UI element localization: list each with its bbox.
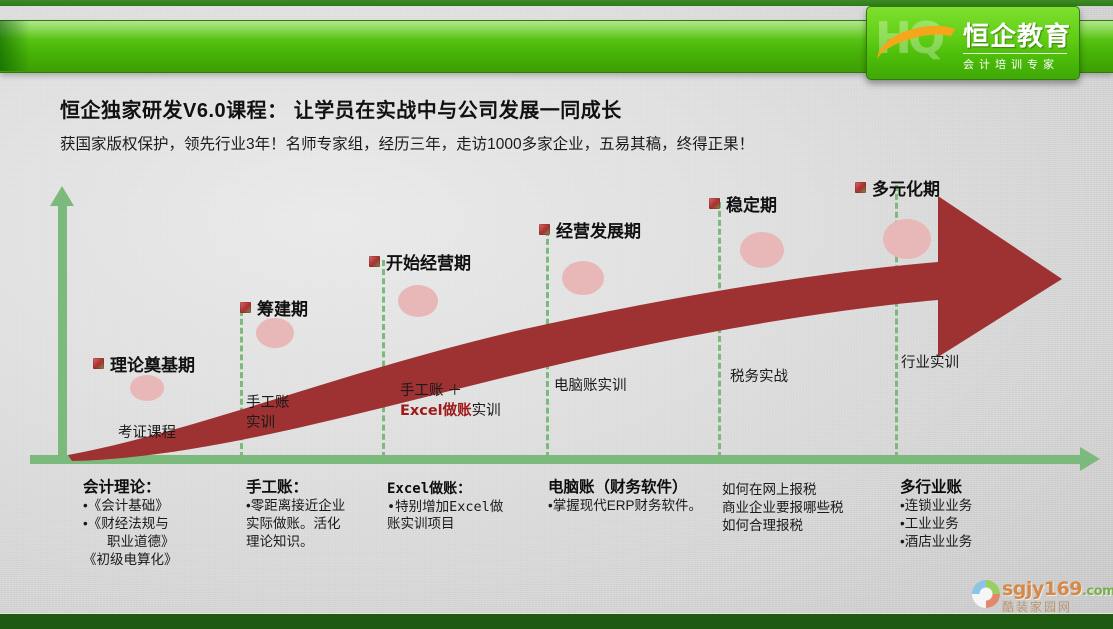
stage-marker-dot [883,219,931,259]
stage-label-1: 考证课程 [118,424,176,444]
stage-label-2: 手工账实训 [246,394,290,433]
milestone-bullet-icon [709,198,720,209]
brand-tagline: 会计培训专家 [963,53,1067,72]
y-axis [58,203,67,460]
stage-label-line: 手工账 ＋ [400,382,501,402]
brand-logo: HQ 恒企教育 会计培训专家 [866,6,1080,80]
stage-divider [382,260,385,458]
curriculum-block-item: •特别增加Excel做 [387,499,503,517]
stage-marker-dot [256,318,294,348]
curriculum-block-item: •零距离接近企业 [246,497,345,515]
milestone-4: 经营发展期 [539,217,641,242]
milestone-bullet-icon [539,224,550,235]
stage-label-6: 行业实训 [901,354,959,374]
curriculum-block-item: 如何合理报税 [722,517,844,535]
header-bar-shadow [0,20,30,71]
curriculum-block-item: 理论知识。 [246,533,345,551]
curriculum-block-item: 账实训项目 [387,516,503,534]
stage-divider [240,310,243,458]
stage-divider [718,202,721,458]
curriculum-block-heading: 电脑账（财务软件） [548,478,702,497]
milestone-label: 筹建期 [257,295,308,320]
milestone-bullet-icon [93,358,104,369]
stage-divider [546,230,549,458]
milestone-label: 理论奠基期 [110,351,195,376]
milestone-label: 稳定期 [726,191,777,216]
highlighted-term: Excel做账 [400,403,472,419]
curriculum-block-heading: 多行业账 [900,478,972,497]
curriculum-block-1: 会计理论：•《会计基础》•《财经法规与职业道德》《初级电算化》 [83,478,178,569]
milestone-label: 开始经营期 [386,249,471,274]
slide-canvas: HQ 恒企教育 会计培训专家 恒企独家研发V6.0课程： 让学员在实战中与公司发… [0,0,1113,628]
curriculum-block-heading: 会计理论： [83,478,178,497]
curriculum-block-item: 《初级电算化》 [83,551,178,569]
watermark-caption: 酷装家园网 [1002,598,1072,615]
curriculum-block-heading: Excel做账： [387,481,503,499]
milestone-label: 多元化期 [872,175,940,200]
curriculum-block-item: 职业道德》 [83,533,178,551]
milestone-5: 稳定期 [709,191,777,216]
stage-label-line: 行业实训 [901,354,959,374]
curriculum-block-item: •工业业务 [900,515,972,533]
curriculum-block-3: Excel做账：•特别增加Excel做账实训项目 [387,481,503,534]
stage-label-5: 税务实战 [730,368,788,388]
site-watermark: sgjy169.com 酷装家园网 [972,576,1105,616]
brand-name: 恒企教育 [963,16,1071,53]
milestone-bullet-icon [855,182,866,193]
x-axis [30,455,1083,464]
milestone-3: 开始经营期 [369,249,471,274]
milestone-bullet-icon [240,302,251,313]
stage-label-line: 考证课程 [118,424,176,444]
curriculum-block-item: •《会计基础》 [83,497,178,515]
milestone-bullet-icon [369,256,380,267]
curriculum-block-6: 多行业账•连锁业业务•工业业务•酒店业业务 [900,478,972,551]
stage-marker-dot [562,261,604,295]
curriculum-block-item: 商业企业要报哪些税 [722,499,844,517]
stage-label-4: 电脑账实训 [554,377,627,397]
stage-label-line: Excel做账实训 [400,402,501,422]
footer-bar [0,613,1113,629]
milestone-1: 理论奠基期 [93,351,195,376]
stage-label-3: 手工账 ＋Excel做账实训 [400,382,501,421]
curriculum-block-item: 如何在网上报税 [722,481,844,499]
curriculum-block-item: •掌握现代ERP财务软件。 [548,497,702,515]
stage-label-line: 实训 [246,414,290,434]
milestone-2: 筹建期 [240,295,308,320]
stage-marker-dot [130,375,164,401]
stage-marker-dot [740,232,784,268]
leaf-icon [972,580,1000,608]
curriculum-block-item: •酒店业业务 [900,533,972,551]
curriculum-block-item: 实际做账。活化 [246,515,345,533]
stage-label-line: 税务实战 [730,368,788,388]
curriculum-block-item: •连锁业业务 [900,497,972,515]
milestone-label: 经营发展期 [556,217,641,242]
milestone-6: 多元化期 [855,175,940,200]
x-axis-arrow-icon [1080,447,1100,471]
watermark-domain: sgjy169.com [1002,578,1113,600]
page-title: 恒企独家研发V6.0课程： 让学员在实战中与公司发展一同成长 [60,94,622,123]
curriculum-block-item: •《财经法规与 [83,515,178,533]
curriculum-block-5: 如何在网上报税商业企业要报哪些税如何合理报税 [722,481,844,534]
stage-label-line: 手工账 [246,394,290,414]
curriculum-block-4: 电脑账（财务软件）•掌握现代ERP财务软件。 [548,478,702,515]
stage-label-line: 电脑账实训 [554,377,627,397]
page-subtitle: 获国家版权保护，领先行业3年！名师专家组，经历三年，走访1000多家企业，五易其… [60,132,754,154]
curriculum-block-2: 手工账：•零距离接近企业实际做账。活化理论知识。 [246,478,345,551]
stage-marker-dot [398,285,438,317]
curriculum-block-heading: 手工账： [246,478,345,497]
